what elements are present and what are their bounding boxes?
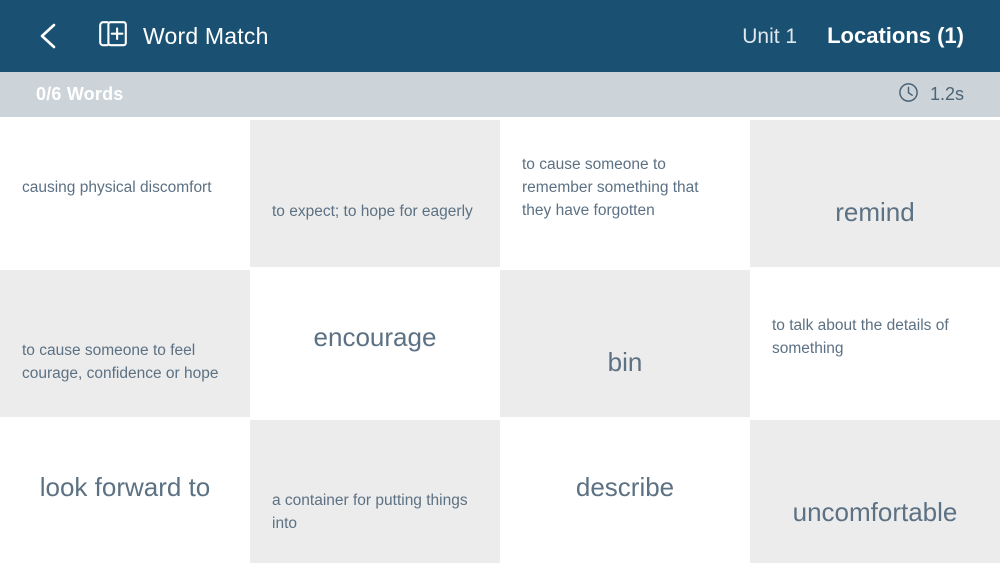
tile-text: to expect; to hope for eagerly [250,200,500,223]
word-tile[interactable]: uncomfortable [750,420,1000,563]
tile-text: remind [750,196,1000,228]
word-tile[interactable]: look forward to [0,417,250,557]
tile-text: to talk about the details of something [750,314,1000,360]
tile-text: describe [500,471,750,503]
timer-value: 1.2s [930,84,964,105]
tile-text: uncomfortable [750,496,1000,528]
back-button[interactable] [0,0,96,72]
page-title: Word Match [143,23,269,50]
word-match-screen: Word Match Unit 1 Locations (1) 0/6 Word… [0,0,1000,563]
definition-tile[interactable]: a container for putting things into [250,420,500,563]
definition-tile[interactable]: causing physical discomfort [0,117,250,257]
cards-plus-icon [96,19,130,54]
clock-icon [898,82,919,108]
header-context: Unit 1 Locations (1) [742,23,1000,49]
status-bar: 0/6 Words 1.2s [0,72,1000,117]
tile-text: to cause someone to feel courage, confid… [0,339,250,385]
tile-text: causing physical discomfort [0,176,250,199]
definition-tile[interactable]: to cause someone to remember something t… [500,117,750,257]
tile-text: to cause someone to remember something t… [500,153,750,222]
tile-text: look forward to [0,471,250,503]
word-tile[interactable]: encourage [250,267,500,407]
tile-text: a container for putting things into [250,489,500,535]
tile-text: encourage [250,321,500,353]
app-header: Word Match Unit 1 Locations (1) [0,0,1000,72]
tile-text: bin [500,346,750,378]
timer: 1.2s [898,82,1000,108]
word-tile[interactable]: describe [500,417,750,557]
word-match-grid: causing physical discomfortto expect; to… [0,117,1000,563]
words-progress-label: 0/6 Words [0,84,124,105]
chevron-left-icon [35,21,61,51]
unit-label: Unit 1 [742,25,797,49]
app-title-group: Word Match [96,19,269,54]
lesson-label: Locations (1) [827,23,964,49]
definition-tile[interactable]: to talk about the details of something [750,267,1000,407]
